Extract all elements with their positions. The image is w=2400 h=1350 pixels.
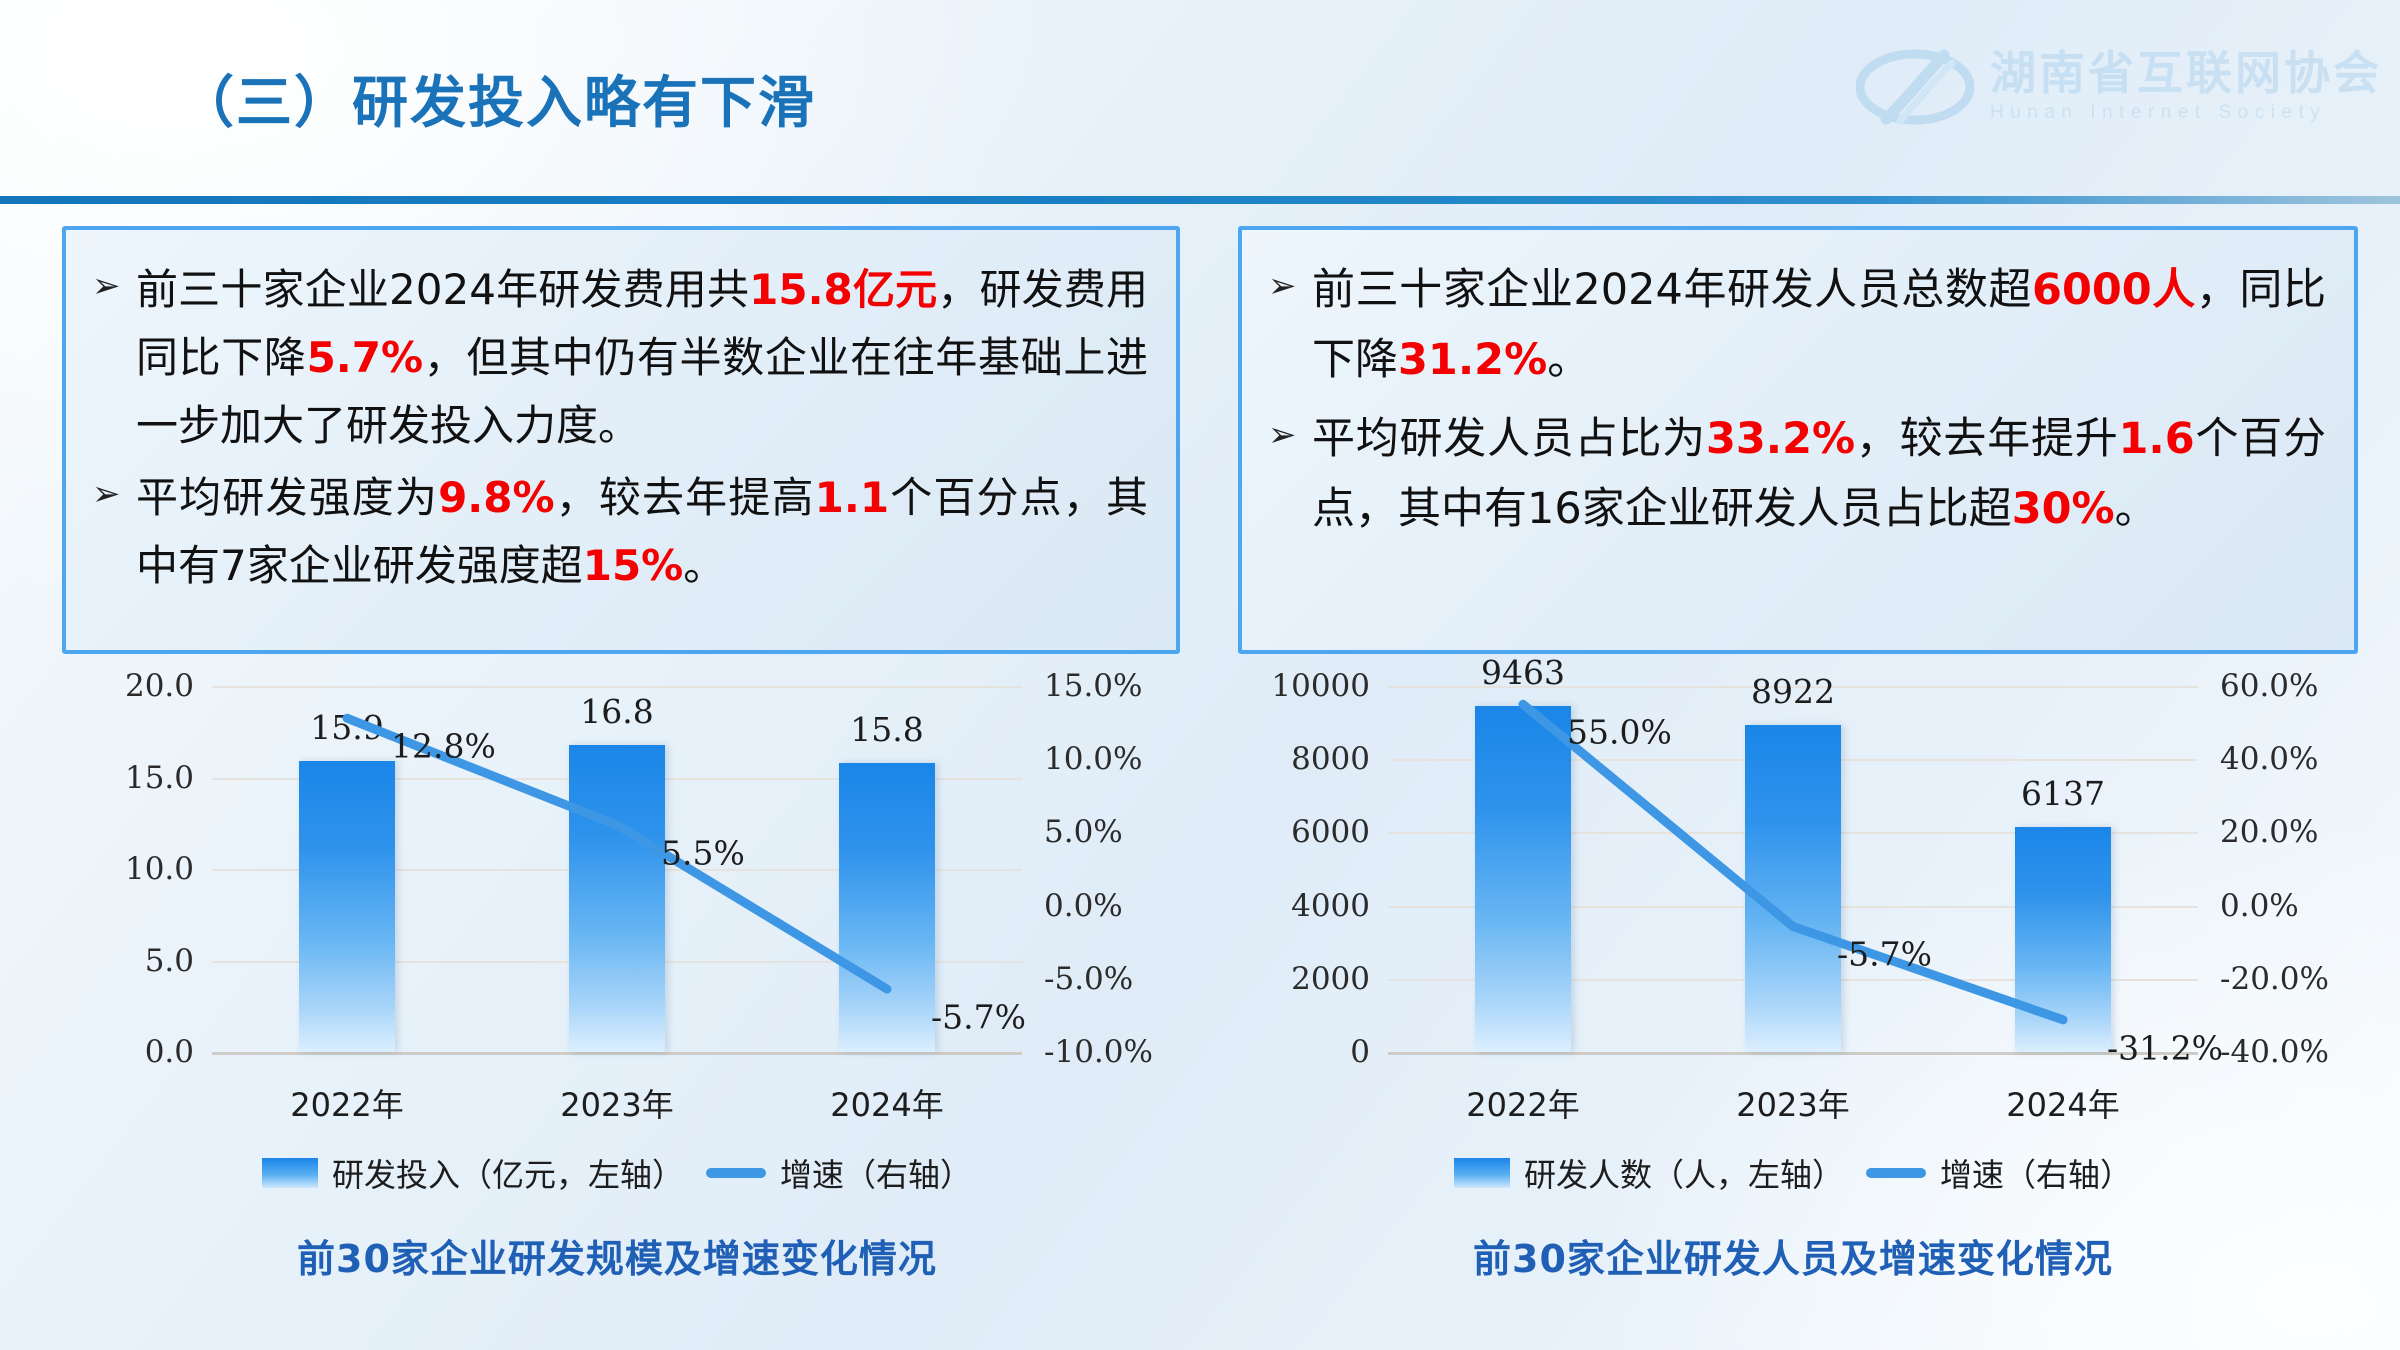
logo-name-cn: 湖南省互联网协会 xyxy=(1990,49,2382,97)
y-axis-tick-left: 10.0 xyxy=(125,851,194,887)
y-axis-tick-right: 0.0% xyxy=(1044,888,1123,924)
chart-caption: 前30家企业研发人员及增速变化情况 xyxy=(1228,1228,2358,1283)
bullet-row: ➢平均研发强度为9.8%，较去年提高1.1个百分点，其中有7家企业研发强度超15… xyxy=(92,464,1148,600)
bullet-arrow-icon: ➢ xyxy=(92,256,136,310)
x-axis-tick: 2023年 xyxy=(1736,1080,1849,1126)
line-value-label: -31.2% xyxy=(2107,1028,2223,1067)
bullet-text: 平均研发人员占比为33.2%，较去年提升1.6个百分点，其中有16家企业研发人员… xyxy=(1312,405,2326,544)
bullet-text-segment: 。 xyxy=(683,541,725,590)
bullet-arrow-icon: ➢ xyxy=(1268,256,1312,310)
y-axis-tick-right: 40.0% xyxy=(2220,741,2318,777)
line-value-label: 12.8% xyxy=(391,727,496,766)
y-axis-tick-right: -5.0% xyxy=(1044,961,1133,997)
y-axis-tick-left: 4000 xyxy=(1291,888,1370,924)
chart-legend: 研发投入（亿元，左轴）增速（右轴） xyxy=(52,1150,1182,1196)
bullet-row: ➢ 前三十家企业2024年研发费用共15.8亿元，研发费用同比下降5.7%，但其… xyxy=(92,256,1148,460)
line-value-label: -5.7% xyxy=(931,998,1026,1037)
bullet-text-segment: ，较去年提升 xyxy=(1855,414,2118,464)
header-divider xyxy=(0,196,2400,204)
slide-header: （三）研发投入略有下滑 湖南省互联网协会 Hunan Internet Soci… xyxy=(0,0,2400,205)
logo-text: 湖南省互联网协会 Hunan Internet Society xyxy=(1990,49,2382,123)
y-axis-tick-left: 20.0 xyxy=(125,668,194,704)
y-axis-tick-left: 6000 xyxy=(1291,814,1370,850)
highlighted-figure: 6000人 xyxy=(2032,265,2196,315)
chart-caption: 前30家企业研发规模及增速变化情况 xyxy=(52,1228,1182,1283)
growth-rate-line xyxy=(1388,686,2198,1052)
legend-label: 研发投入（亿元，左轴） xyxy=(332,1150,684,1196)
growth-rate-line xyxy=(212,686,1022,1052)
y-axis-tick-left: 0.0 xyxy=(145,1034,194,1070)
x-axis-tick: 2024年 xyxy=(830,1080,943,1126)
bullet-text: 前三十家企业2024年研发费用共15.8亿元，研发费用同比下降5.7%，但其中仍… xyxy=(136,256,1148,460)
line-value-label: 55.0% xyxy=(1567,713,1672,752)
callout-box-rd-investment: ➢ 前三十家企业2024年研发费用共15.8亿元，研发费用同比下降5.7%，但其… xyxy=(62,226,1180,654)
bullet-text-segment: 前三十家企业2024年研发费用共 xyxy=(136,265,749,314)
gridline xyxy=(1388,1052,2198,1055)
highlighted-figure: 9.8% xyxy=(438,473,554,522)
y-axis-tick-left: 15.0 xyxy=(125,760,194,796)
y-axis-tick-right: -10.0% xyxy=(1044,1034,1153,1070)
legend-bar-swatch-icon xyxy=(262,1158,318,1188)
bullet-text-segment: 平均研发人员占比为 xyxy=(1312,414,1706,464)
legend-label: 增速（右轴） xyxy=(780,1150,972,1196)
y-axis-tick-right: 15.0% xyxy=(1044,668,1142,704)
highlighted-figure: 30% xyxy=(2012,484,2115,534)
highlighted-figure: 5.7% xyxy=(307,333,423,382)
line-value-label: -5.7% xyxy=(1837,935,1932,974)
swoosh-logo-icon xyxy=(1856,39,1974,135)
highlighted-figure: 31.2% xyxy=(1398,335,1547,385)
y-axis-tick-right: 20.0% xyxy=(2220,814,2318,850)
y-axis-tick-left: 5.0 xyxy=(145,943,194,979)
bullet-row: ➢ 前三十家企业2024年研发人员总数超6000人，同比下降31.2%。 xyxy=(1268,256,2326,395)
plot-inner: 0200040006000800010000-40.0%-20.0%0.0%20… xyxy=(1388,686,2198,1052)
chart-rd-investment: 0.05.010.015.020.0-10.0%-5.0%0.0%5.0%10.… xyxy=(52,672,1182,1312)
gridline xyxy=(212,1052,1022,1055)
logo-name-en: Hunan Internet Society xyxy=(1990,102,2382,124)
bullet-text-segment: 。 xyxy=(2115,484,2158,534)
highlighted-figure: 1.6 xyxy=(2119,414,2195,464)
plot-area: 0200040006000800010000-40.0%-20.0%0.0%20… xyxy=(1228,672,2358,1052)
x-axis-tick: 2023年 xyxy=(560,1080,673,1126)
legend-item[interactable]: 研发投入（亿元，左轴） xyxy=(262,1150,684,1196)
legend-bar-swatch-icon xyxy=(1454,1158,1510,1188)
y-axis-tick-right: 10.0% xyxy=(1044,741,1142,777)
bullet-text-segment: 前三十家企业2024年研发人员总数超 xyxy=(1312,265,2032,315)
y-axis-tick-right: -40.0% xyxy=(2220,1034,2329,1070)
y-axis-tick-right: 5.0% xyxy=(1044,814,1123,850)
y-axis-tick-right: -20.0% xyxy=(2220,961,2329,997)
y-axis-tick-left: 10000 xyxy=(1271,668,1370,704)
y-axis-tick-left: 2000 xyxy=(1291,961,1370,997)
x-axis-tick: 2022年 xyxy=(1466,1080,1579,1126)
chart-rd-personnel: 0200040006000800010000-40.0%-20.0%0.0%20… xyxy=(1228,672,2358,1312)
legend-line-swatch-icon xyxy=(706,1168,766,1178)
bullet-arrow-icon: ➢ xyxy=(1268,405,1312,459)
bullet-text-segment: 平均研发强度为 xyxy=(136,473,438,522)
highlighted-figure: 33.2% xyxy=(1706,414,1855,464)
highlighted-figure: 15% xyxy=(583,541,684,590)
chart-legend: 研发人数（人，左轴）增速（右轴） xyxy=(1228,1150,2358,1196)
highlighted-figure: 1.1 xyxy=(815,473,889,522)
plot-area: 0.05.010.015.020.0-10.0%-5.0%0.0%5.0%10.… xyxy=(52,672,1182,1052)
bullet-text-segment: ，较去年提高 xyxy=(555,473,815,522)
callout-box-rd-personnel: ➢ 前三十家企业2024年研发人员总数超6000人，同比下降31.2%。➢平均研… xyxy=(1238,226,2358,654)
y-axis-tick-right: 0.0% xyxy=(2220,888,2299,924)
organization-logo: 湖南省互联网协会 Hunan Internet Society xyxy=(1856,34,2382,139)
bullet-text: 平均研发强度为9.8%，较去年提高1.1个百分点，其中有7家企业研发强度超15%… xyxy=(136,464,1148,600)
plot-inner: 0.05.010.015.020.0-10.0%-5.0%0.0%5.0%10.… xyxy=(212,686,1022,1052)
bullet-arrow-icon: ➢ xyxy=(92,464,136,518)
y-axis-tick-left: 0 xyxy=(1350,1034,1370,1070)
x-axis-tick: 2022年 xyxy=(290,1080,403,1126)
legend-item[interactable]: 增速（右轴） xyxy=(706,1150,972,1196)
legend-label: 增速（右轴） xyxy=(1940,1150,2132,1196)
legend-item[interactable]: 增速（右轴） xyxy=(1866,1150,2132,1196)
bullet-row: ➢平均研发人员占比为33.2%，较去年提升1.6个百分点，其中有16家企业研发人… xyxy=(1268,405,2326,544)
bullet-text-segment: 。 xyxy=(1547,335,1590,385)
page-title: （三）研发投入略有下滑 xyxy=(178,58,816,139)
highlighted-figure: 15.8亿元 xyxy=(749,265,937,314)
y-axis-tick-left: 8000 xyxy=(1291,741,1370,777)
x-axis-tick: 2024年 xyxy=(2006,1080,2119,1126)
legend-line-swatch-icon xyxy=(1866,1168,1926,1178)
bullet-text: 前三十家企业2024年研发人员总数超6000人，同比下降31.2%。 xyxy=(1312,256,2326,395)
y-axis-tick-right: 60.0% xyxy=(2220,668,2318,704)
legend-item[interactable]: 研发人数（人，左轴） xyxy=(1454,1150,1844,1196)
line-value-label: 5.5% xyxy=(661,834,745,873)
legend-label: 研发人数（人，左轴） xyxy=(1524,1150,1844,1196)
